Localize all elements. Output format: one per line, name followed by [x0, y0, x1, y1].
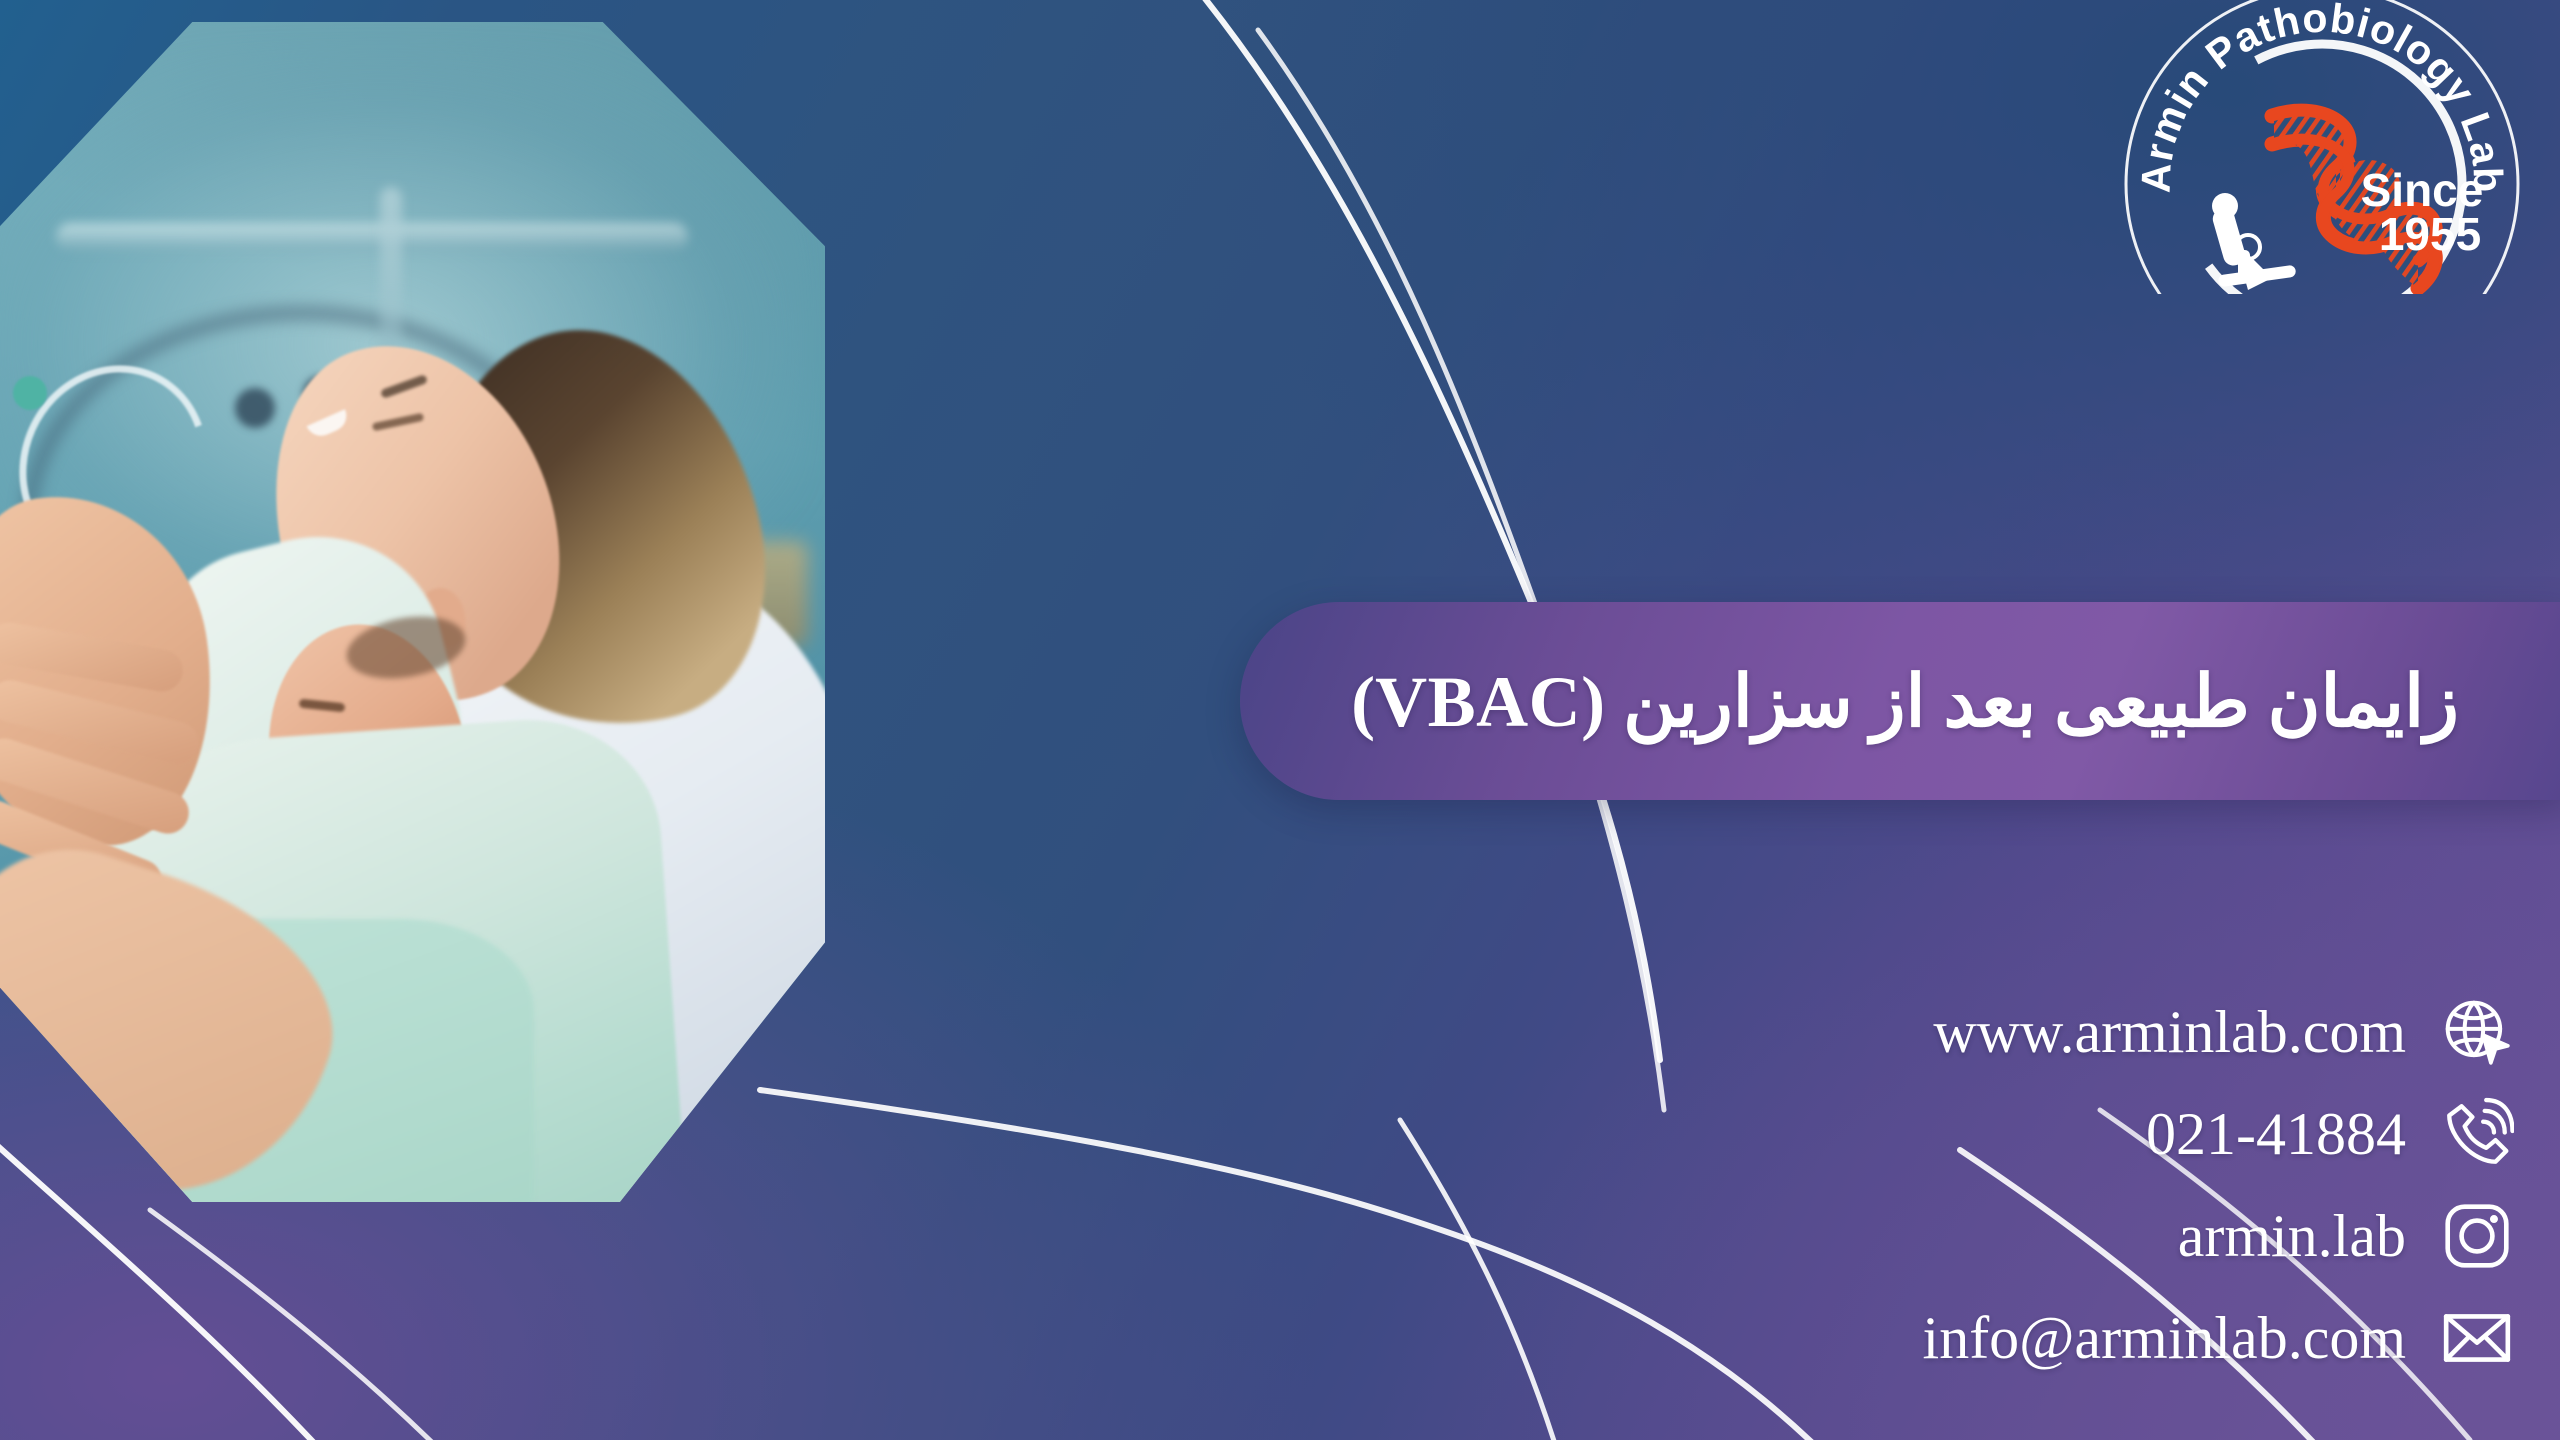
contact-row-website[interactable]: www.arminlab.com [1084, 986, 2514, 1078]
contact-row-instagram[interactable]: armin.lab [1084, 1190, 2514, 1282]
hero-photo [0, 22, 825, 1202]
globe-cursor-icon [2440, 995, 2514, 1069]
envelope-icon [2440, 1301, 2514, 1375]
phone-icon [2440, 1097, 2514, 1171]
photo-shading-overlay [0, 22, 825, 1202]
website-label: www.arminlab.com [1933, 1002, 2406, 1062]
microscope-icon [2210, 193, 2296, 290]
instagram-label: armin.lab [2178, 1206, 2406, 1266]
hero-photo-frame [0, 22, 825, 1202]
logo-since-year: 1955 [2379, 208, 2481, 260]
page-title: زایمان طبیعی بعد از سزارین (VBAC) [1291, 659, 2519, 744]
contact-row-email[interactable]: info@arminlab.com [1084, 1292, 2514, 1384]
title-banner: زایمان طبیعی بعد از سزارین (VBAC) [1240, 602, 2560, 800]
email-label: info@arminlab.com [1923, 1308, 2406, 1368]
contact-row-phone[interactable]: 021-41884 [1084, 1088, 2514, 1180]
instagram-icon [2440, 1199, 2514, 1273]
contact-list: www.arminlab.com 021-41884 [1084, 986, 2514, 1384]
company-logo: Armin Pathobiology Lab [2122, 0, 2522, 294]
banner-canvas: Armin Pathobiology Lab [0, 0, 2560, 1440]
logo-svg: Armin Pathobiology Lab [2122, 0, 2522, 294]
phone-label: 021-41884 [2146, 1104, 2406, 1164]
